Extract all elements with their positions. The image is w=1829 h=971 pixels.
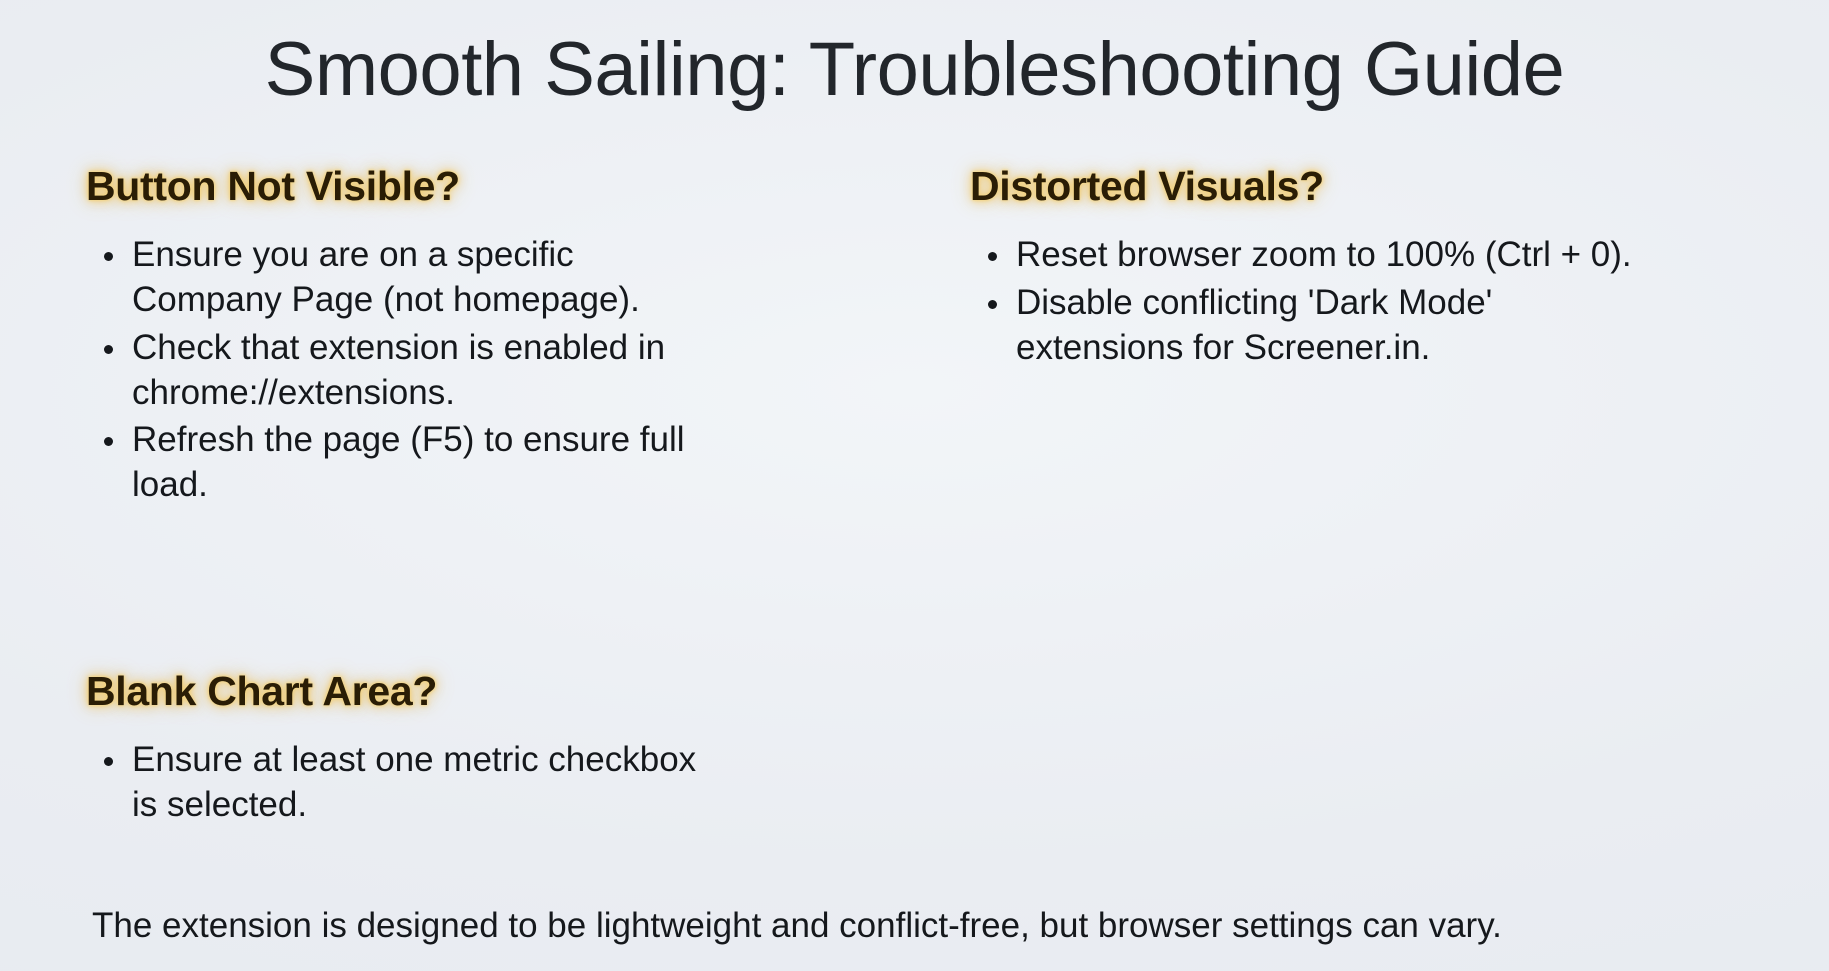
troubleshooting-slide: Smooth Sailing: Troubleshooting Guide Bu… bbox=[0, 0, 1829, 971]
list-item-text: Refresh the page (F5) to ensure full loa… bbox=[132, 420, 685, 504]
footer-note: The extension is designed to be lightwei… bbox=[92, 903, 1772, 949]
panel-heading-button-not-visible: Button Not Visible? bbox=[86, 162, 856, 211]
list-item-text: Ensure at least one metric checkbox is s… bbox=[132, 740, 696, 824]
panel-button-not-visible: Button Not Visible? Ensure you are on a … bbox=[86, 162, 916, 511]
bullet-dot-icon bbox=[988, 300, 997, 309]
panel-heading-distorted-visuals: Distorted Visuals? bbox=[970, 162, 1726, 211]
list-item: Reset browser zoom to 100% (Ctrl + 0). bbox=[970, 233, 1650, 278]
list-item: Refresh the page (F5) to ensure full loa… bbox=[86, 418, 726, 508]
page-title: Smooth Sailing: Troubleshooting Guide bbox=[0, 22, 1829, 117]
panel-list-button-not-visible: Ensure you are on a specific Company Pag… bbox=[86, 233, 856, 508]
panel-blank-chart-area: Blank Chart Area? Ensure at least one me… bbox=[86, 667, 916, 831]
bullet-dot-icon bbox=[104, 437, 113, 446]
bullet-dot-icon bbox=[988, 252, 997, 261]
bullet-dot-icon bbox=[104, 757, 113, 766]
panel-heading-blank-chart-area: Blank Chart Area? bbox=[86, 667, 856, 716]
bullet-dot-icon bbox=[104, 252, 113, 261]
list-item-text: Check that extension is enabled in chrom… bbox=[132, 328, 665, 412]
bullet-dot-icon bbox=[104, 345, 113, 354]
list-item: Ensure at least one metric checkbox is s… bbox=[86, 738, 726, 828]
panel-list-distorted-visuals: Reset browser zoom to 100% (Ctrl + 0). D… bbox=[970, 233, 1726, 370]
list-item: Disable conflicting 'Dark Mode' extensio… bbox=[970, 281, 1650, 371]
panel-row-top: Button Not Visible? Ensure you are on a … bbox=[86, 162, 1746, 511]
panel-list-blank-chart-area: Ensure at least one metric checkbox is s… bbox=[86, 738, 856, 828]
list-item: Check that extension is enabled in chrom… bbox=[86, 326, 726, 416]
list-item-text: Reset browser zoom to 100% (Ctrl + 0). bbox=[1016, 235, 1632, 274]
panel-row-spacer bbox=[86, 511, 1746, 667]
panel-distorted-visuals: Distorted Visuals? Reset browser zoom to… bbox=[916, 162, 1746, 374]
list-item-text: Ensure you are on a specific Company Pag… bbox=[132, 235, 640, 319]
list-item: Ensure you are on a specific Company Pag… bbox=[86, 233, 726, 323]
panel-row-bottom: Blank Chart Area? Ensure at least one me… bbox=[86, 667, 1746, 831]
panel-grid: Button Not Visible? Ensure you are on a … bbox=[86, 162, 1746, 831]
list-item-text: Disable conflicting 'Dark Mode' extensio… bbox=[1016, 283, 1492, 367]
